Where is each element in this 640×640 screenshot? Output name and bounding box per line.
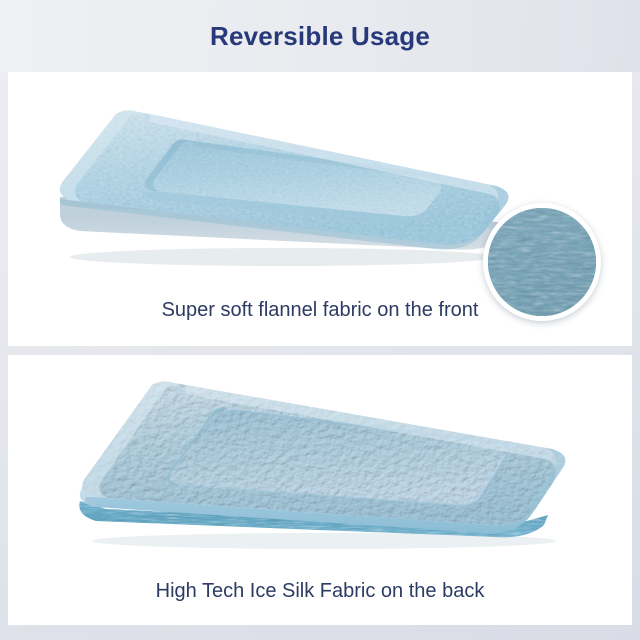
title-bar: Reversible Usage xyxy=(0,0,640,72)
caption-back-side: High Tech Ice Silk Fabric on the back xyxy=(8,581,632,601)
caption-front-side: Super soft flannel fabric on the front xyxy=(8,300,632,320)
panel-back-side: High Tech Ice Silk Fabric on the back xyxy=(8,355,632,625)
pet-bed-ice-silk-illustration xyxy=(66,369,574,559)
panel-front-side: Super soft flannel fabric on the front xyxy=(8,72,632,346)
pet-bed-flannel-illustration xyxy=(46,94,512,274)
infographic-page: Reversible Usage xyxy=(0,0,640,640)
page-title: Reversible Usage xyxy=(210,23,430,49)
